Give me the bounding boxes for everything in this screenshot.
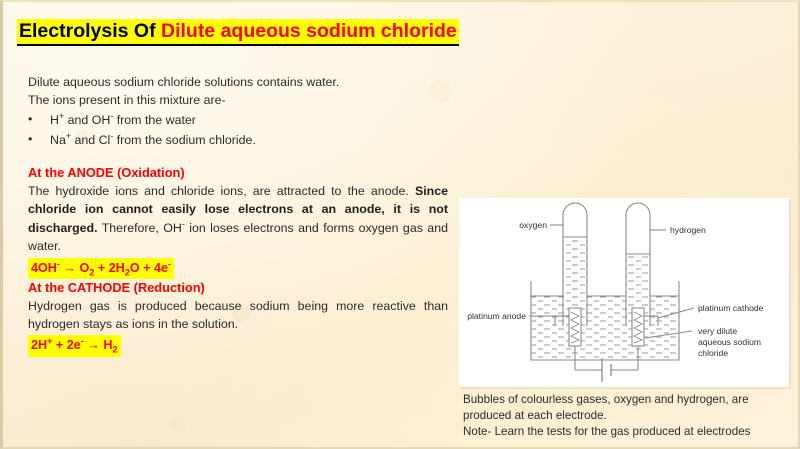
slide-root: Electrolysis Of Dilute aqueous sodium ch…: [0, 0, 800, 449]
eq-part: → H: [84, 339, 113, 353]
eq-part: → O: [60, 261, 89, 275]
caption-line-3: Note- Learn the tests for the gas produc…: [463, 424, 797, 440]
intro-block: Dilute aqueous sodium chloride solutions…: [28, 74, 448, 150]
eq-part: + 2H: [94, 261, 124, 275]
eq-part: O: [130, 261, 140, 275]
list-item: • Na+ and Cl- from the sodium chloride.: [28, 130, 448, 150]
label-oxygen: oxygen: [519, 220, 547, 230]
anode-equation: 4OH- → O2 + 2H2O + 4e-: [28, 258, 174, 280]
diagram-caption: Bubbles of colourless gases, oxygen and …: [463, 392, 797, 439]
title-black-part: Electrolysis Of: [19, 20, 161, 42]
eq-part: 4OH: [31, 261, 57, 275]
anode-heading: At the ANODE (Oxidation): [28, 164, 448, 182]
ion-bullet-list: • H+ and OH- from the water • Na+ and Cl…: [28, 110, 448, 149]
label-electrolyte-line3: chloride: [698, 348, 728, 358]
caption-line-2: produced at each electrode.: [463, 408, 797, 424]
eq-sub: 2: [113, 345, 118, 355]
list-item: • H+ and OH- from the water: [28, 110, 448, 130]
ion-post: from the sodium chloride.: [113, 133, 256, 147]
label-electrolyte-line1: very dilute: [698, 326, 737, 336]
ion-mid: and Cl: [71, 133, 110, 147]
oxygen-test-tube: [563, 203, 587, 237]
ion-mid: and OH: [64, 113, 110, 127]
hydrogen-tube-liquid: [626, 254, 650, 307]
eq-part: + 4e: [140, 261, 168, 275]
ion-pre: H: [50, 113, 59, 127]
electrolysis-diagram-svg: oxygen hydrogen platinum anode platinum …: [459, 198, 789, 387]
label-platinum-cathode: platinum cathode: [698, 303, 764, 313]
label-platinum-anode: platinum anode: [467, 311, 526, 321]
anode-text-start: The hydroxide ions and chloride ions, ar…: [28, 184, 415, 198]
eq-sup: -: [168, 259, 171, 269]
cathode-body-text: Hydrogen gas is produced because sodium …: [28, 298, 448, 333]
ion-post: from the water: [113, 113, 196, 127]
page-title: Electrolysis Of Dilute aqueous sodium ch…: [17, 19, 459, 46]
caption-line-1: Bubbles of colourless gases, oxygen and …: [463, 392, 797, 408]
eq-part: + 2e: [52, 339, 80, 353]
label-electrolyte-line2: aqueous sodium: [698, 337, 761, 347]
electrolyte-liquid: [531, 296, 679, 360]
title-red-part: Dilute aqueous sodium chloride: [161, 20, 457, 42]
title-highlight: Electrolysis Of Dilute aqueous sodium ch…: [17, 19, 459, 46]
ion-pre: Na: [50, 133, 66, 147]
bullet-marker-icon: •: [28, 110, 50, 129]
bullet-marker-icon: •: [28, 130, 50, 149]
cathode-heading: At the CATHODE (Reduction): [28, 279, 448, 297]
eq-part: 2H: [31, 339, 47, 353]
electrolysis-diagram: oxygen hydrogen platinum anode platinum …: [459, 198, 789, 387]
label-hydrogen: hydrogen: [670, 225, 706, 235]
hydrogen-test-tube: [626, 203, 650, 254]
left-content-column: Dilute aqueous sodium chloride solutions…: [28, 74, 448, 150]
list-item-label: Na+ and Cl- from the sodium chloride.: [50, 130, 448, 150]
intro-line-1: Dilute aqueous sodium chloride solutions…: [28, 74, 448, 92]
cathode-equation: 2H+ + 2e- → H2: [28, 335, 121, 357]
list-item-label: H+ and OH- from the water: [50, 110, 448, 130]
anode-text-mid: Therefore, OH: [98, 222, 182, 236]
oxygen-tube-liquid: [563, 237, 587, 307]
cathode-section: At the CATHODE (Reduction) Hydrogen gas …: [28, 279, 448, 357]
anode-section: At the ANODE (Oxidation) The hydroxide i…: [28, 164, 448, 279]
anode-body-text: The hydroxide ions and chloride ions, ar…: [28, 183, 448, 256]
intro-line-2: The ions present in this mixture are-: [28, 92, 448, 110]
